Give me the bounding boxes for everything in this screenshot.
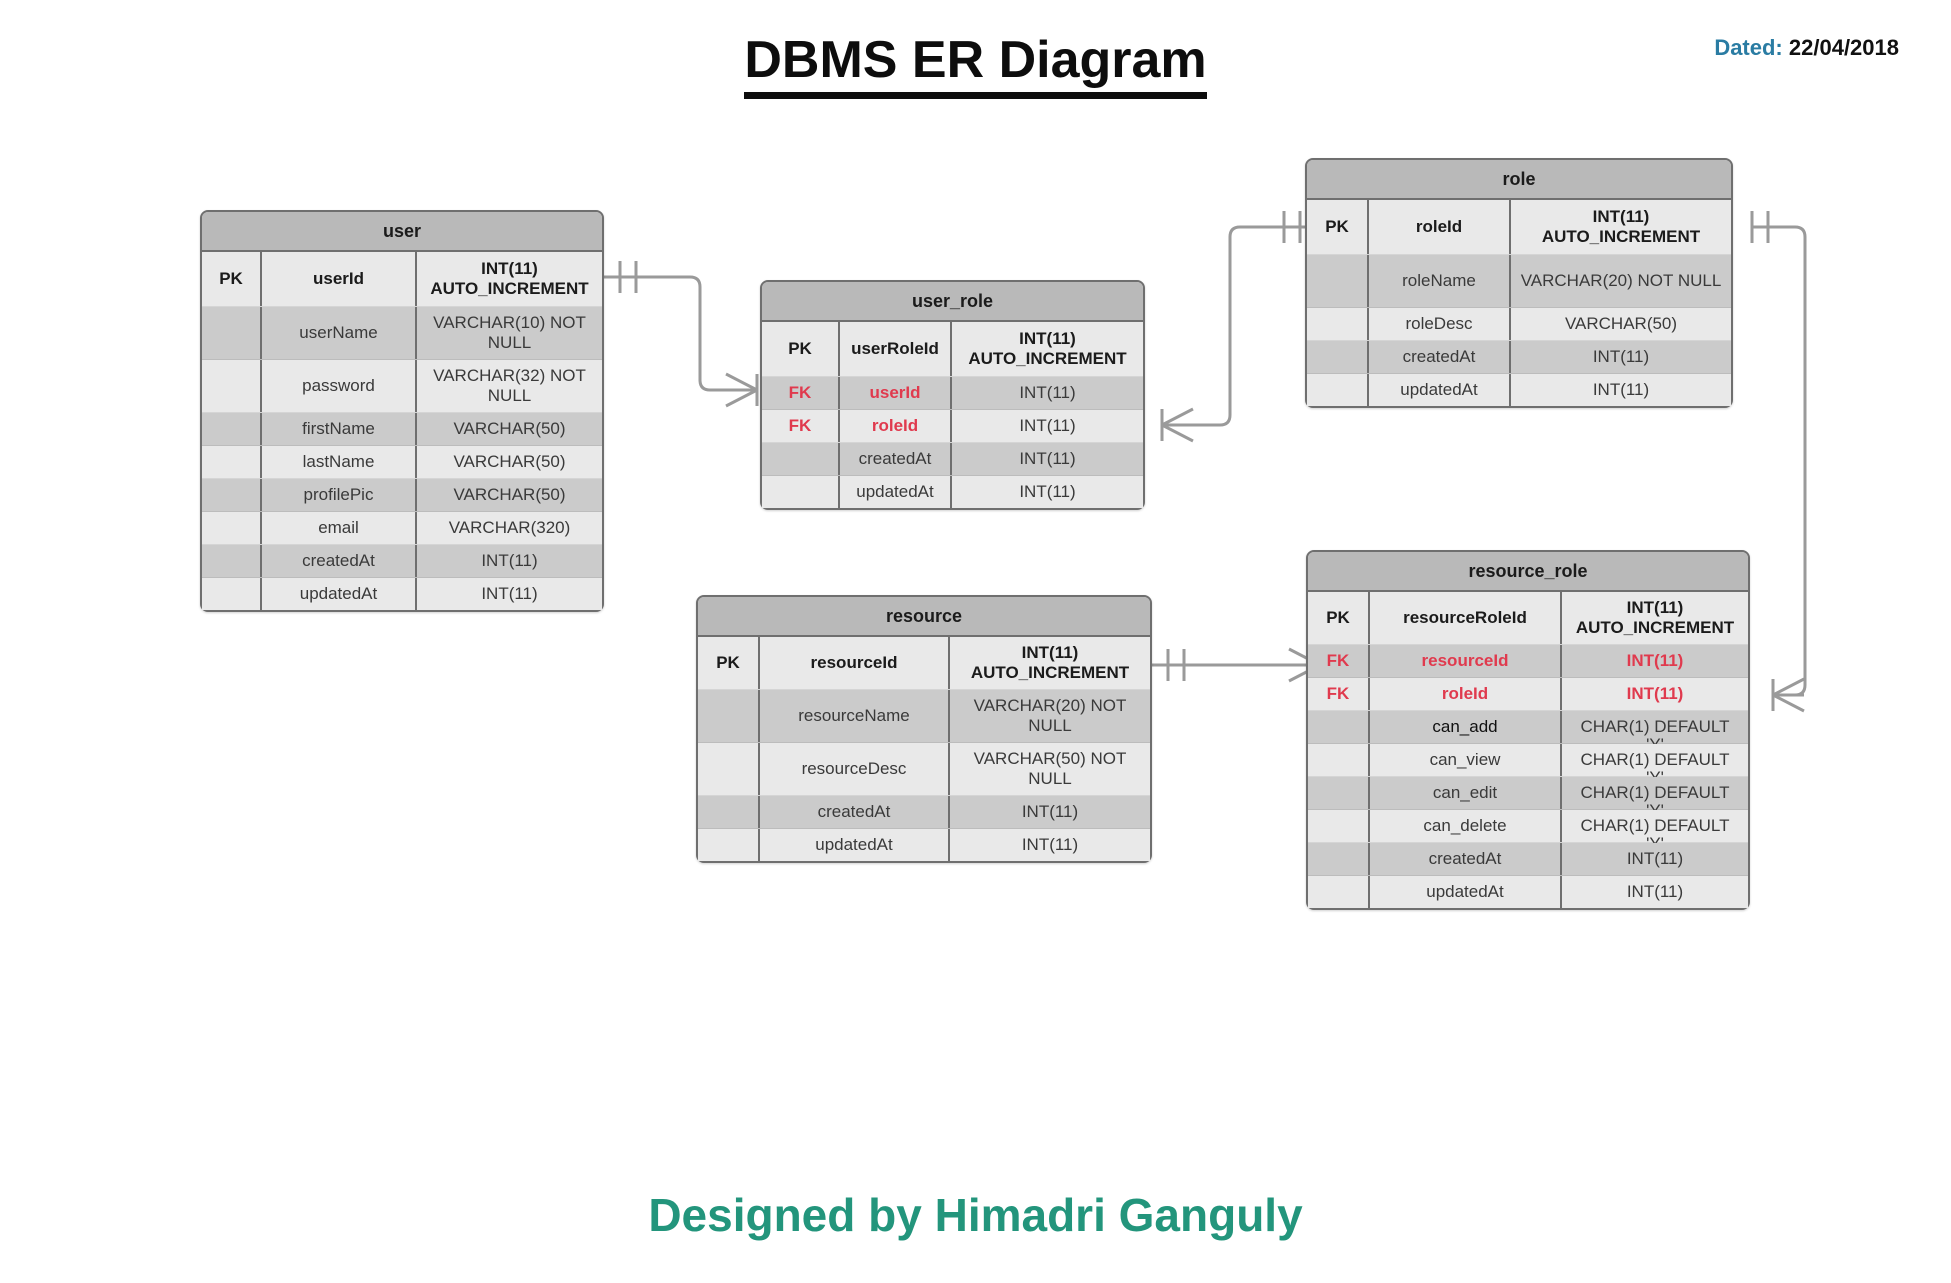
column-name: userId bbox=[262, 252, 417, 306]
table-row[interactable]: password VARCHAR(32) NOT NULL bbox=[202, 360, 602, 413]
column-name: resourceDesc bbox=[760, 743, 950, 795]
dated-label: Dated: bbox=[1714, 35, 1782, 60]
column-name: lastName bbox=[262, 446, 417, 478]
column-name: resourceRoleId bbox=[1370, 592, 1562, 644]
column-type: VARCHAR(50) bbox=[417, 413, 602, 445]
entity-title-user-role: user_role bbox=[762, 282, 1143, 322]
column-type: VARCHAR(50) bbox=[417, 479, 602, 511]
column-type: INT(11) bbox=[1562, 678, 1748, 710]
column-key bbox=[1307, 308, 1369, 340]
column-name: roleId bbox=[840, 410, 952, 442]
column-key bbox=[1308, 711, 1370, 743]
table-row[interactable]: createdAt INT(11) bbox=[1308, 843, 1748, 876]
column-type: INT(11) bbox=[950, 829, 1150, 861]
entity-user[interactable]: user PK userId INT(11) AUTO_INCREMENT us… bbox=[200, 210, 604, 612]
column-key: PK bbox=[762, 322, 840, 376]
column-type: INT(11) AUTO_INCREMENT bbox=[1562, 592, 1748, 644]
column-type: CHAR(1) DEFAULT 'Y' bbox=[1562, 777, 1748, 809]
table-row[interactable]: FK userId INT(11) bbox=[762, 377, 1143, 410]
table-row[interactable]: updatedAt INT(11) bbox=[202, 578, 602, 610]
column-key bbox=[1307, 255, 1369, 307]
column-key bbox=[202, 307, 262, 359]
column-name: resourceId bbox=[760, 637, 950, 689]
column-type-text: CHAR(1) DEFAULT bbox=[1581, 717, 1730, 737]
column-type: VARCHAR(50) bbox=[1511, 308, 1731, 340]
table-row[interactable]: FK roleId INT(11) bbox=[1308, 678, 1748, 711]
table-row[interactable]: can_view CHAR(1) DEFAULT 'Y' bbox=[1308, 744, 1748, 777]
column-key bbox=[202, 578, 262, 610]
table-row[interactable]: PK resourceId INT(11) AUTO_INCREMENT bbox=[698, 637, 1150, 690]
column-key bbox=[1308, 744, 1370, 776]
table-row[interactable]: updatedAt INT(11) bbox=[698, 829, 1150, 861]
table-row[interactable]: FK resourceId INT(11) bbox=[1308, 645, 1748, 678]
connector-role-to-resource-role bbox=[1753, 227, 1805, 695]
column-type: VARCHAR(50) bbox=[417, 446, 602, 478]
dated-value: 22/04/2018 bbox=[1789, 35, 1899, 60]
column-name: createdAt bbox=[262, 545, 417, 577]
column-key: PK bbox=[1307, 200, 1369, 254]
column-type: INT(11) bbox=[417, 545, 602, 577]
table-row[interactable]: createdAt INT(11) bbox=[698, 796, 1150, 829]
column-key: PK bbox=[698, 637, 760, 689]
column-name: roleName bbox=[1369, 255, 1511, 307]
column-name: email bbox=[262, 512, 417, 544]
column-key: PK bbox=[1308, 592, 1370, 644]
column-type-text: CHAR(1) DEFAULT bbox=[1581, 783, 1730, 803]
column-key bbox=[202, 446, 262, 478]
column-key bbox=[762, 443, 840, 475]
table-row[interactable]: can_delete CHAR(1) DEFAULT 'Y' bbox=[1308, 810, 1748, 843]
column-key: FK bbox=[762, 377, 840, 409]
column-name: resourceId bbox=[1370, 645, 1562, 677]
column-key bbox=[698, 690, 760, 742]
entity-user-role[interactable]: user_role PK userRoleId INT(11) AUTO_INC… bbox=[760, 280, 1145, 510]
column-type: INT(11) AUTO_INCREMENT bbox=[1511, 200, 1731, 254]
page-title: DBMS ER Diagram bbox=[0, 30, 1951, 99]
column-name: userName bbox=[262, 307, 417, 359]
table-row[interactable]: can_edit CHAR(1) DEFAULT 'Y' bbox=[1308, 777, 1748, 810]
column-key bbox=[202, 512, 262, 544]
column-name: can_view bbox=[1370, 744, 1562, 776]
column-key bbox=[1308, 843, 1370, 875]
column-list-resource-role: PK resourceRoleId INT(11) AUTO_INCREMENT… bbox=[1308, 592, 1748, 908]
column-key bbox=[1308, 810, 1370, 842]
column-name: can_edit bbox=[1370, 777, 1562, 809]
column-name: updatedAt bbox=[840, 476, 952, 508]
entity-title-resource: resource bbox=[698, 597, 1150, 637]
column-key bbox=[1308, 876, 1370, 908]
column-type: INT(11) bbox=[1562, 843, 1748, 875]
entity-role[interactable]: role PK roleId INT(11) AUTO_INCREMENT ro… bbox=[1305, 158, 1733, 408]
column-name: roleDesc bbox=[1369, 308, 1511, 340]
column-name: createdAt bbox=[1369, 341, 1511, 373]
column-list-user: PK userId INT(11) AUTO_INCREMENT userNam… bbox=[202, 252, 602, 610]
page-title-text: DBMS ER Diagram bbox=[744, 32, 1206, 99]
table-row[interactable]: firstName VARCHAR(50) bbox=[202, 413, 602, 446]
column-name: firstName bbox=[262, 413, 417, 445]
column-type: INT(11) bbox=[952, 377, 1143, 409]
column-name: can_add bbox=[1370, 711, 1562, 743]
column-type: INT(11) AUTO_INCREMENT bbox=[952, 322, 1143, 376]
column-type: INT(11) bbox=[1511, 341, 1731, 373]
column-type: VARCHAR(20) NOT NULL bbox=[1511, 255, 1731, 307]
column-key bbox=[202, 413, 262, 445]
table-row[interactable]: updatedAt INT(11) bbox=[1308, 876, 1748, 908]
column-name: updatedAt bbox=[1370, 876, 1562, 908]
dated-stamp: Dated: 22/04/2018 bbox=[1714, 35, 1899, 61]
column-key bbox=[762, 476, 840, 508]
column-type: CHAR(1) DEFAULT 'Y' bbox=[1562, 744, 1748, 776]
column-key: FK bbox=[1308, 645, 1370, 677]
column-type: INT(11) bbox=[417, 578, 602, 610]
column-type: VARCHAR(50) NOT NULL bbox=[950, 743, 1150, 795]
column-key bbox=[698, 829, 760, 861]
column-name: roleId bbox=[1369, 200, 1511, 254]
connector-role-to-user-role bbox=[1162, 227, 1315, 425]
column-type: VARCHAR(32) NOT NULL bbox=[417, 360, 602, 412]
table-row[interactable]: PK resourceRoleId INT(11) AUTO_INCREMENT bbox=[1308, 592, 1748, 645]
column-name: createdAt bbox=[1370, 843, 1562, 875]
column-type: INT(11) bbox=[952, 476, 1143, 508]
column-type: VARCHAR(320) bbox=[417, 512, 602, 544]
column-key bbox=[202, 360, 262, 412]
table-row[interactable]: createdAt INT(11) bbox=[202, 545, 602, 578]
column-name: createdAt bbox=[840, 443, 952, 475]
column-type: CHAR(1) DEFAULT 'Y' bbox=[1562, 810, 1748, 842]
column-type-text: CHAR(1) DEFAULT bbox=[1581, 750, 1730, 770]
table-row[interactable]: PK userId INT(11) AUTO_INCREMENT bbox=[202, 252, 602, 307]
column-key: FK bbox=[1308, 678, 1370, 710]
column-type: INT(11) AUTO_INCREMENT bbox=[950, 637, 1150, 689]
column-type: INT(11) bbox=[1511, 374, 1731, 406]
column-name: updatedAt bbox=[760, 829, 950, 861]
column-key bbox=[202, 545, 262, 577]
entity-title-user: user bbox=[202, 212, 602, 252]
column-name: userRoleId bbox=[840, 322, 952, 376]
column-key bbox=[1307, 374, 1369, 406]
column-name: resourceName bbox=[760, 690, 950, 742]
table-row[interactable]: email VARCHAR(320) bbox=[202, 512, 602, 545]
column-key: FK bbox=[762, 410, 840, 442]
table-row[interactable]: updatedAt INT(11) bbox=[1307, 374, 1731, 406]
column-type: VARCHAR(20) NOT NULL bbox=[950, 690, 1150, 742]
table-row[interactable]: can_add CHAR(1) DEFAULT 'Y' bbox=[1308, 711, 1748, 744]
entity-resource-role[interactable]: resource_role PK resourceRoleId INT(11) … bbox=[1306, 550, 1750, 910]
column-type: INT(11) bbox=[952, 410, 1143, 442]
column-type: INT(11) bbox=[1562, 645, 1748, 677]
column-name: password bbox=[262, 360, 417, 412]
column-name: updatedAt bbox=[262, 578, 417, 610]
column-list-resource: PK resourceId INT(11) AUTO_INCREMENT res… bbox=[698, 637, 1150, 861]
entity-title-resource-role: resource_role bbox=[1308, 552, 1748, 592]
table-row[interactable]: profilePic VARCHAR(50) bbox=[202, 479, 602, 512]
column-name: profilePic bbox=[262, 479, 417, 511]
table-row[interactable]: createdAt INT(11) bbox=[1307, 341, 1731, 374]
column-key bbox=[698, 743, 760, 795]
column-name: can_delete bbox=[1370, 810, 1562, 842]
column-type: CHAR(1) DEFAULT 'Y' bbox=[1562, 711, 1748, 743]
column-type: INT(11) AUTO_INCREMENT bbox=[417, 252, 602, 306]
table-row[interactable]: userName VARCHAR(10) NOT NULL bbox=[202, 307, 602, 360]
table-row[interactable]: lastName VARCHAR(50) bbox=[202, 446, 602, 479]
column-key bbox=[1308, 777, 1370, 809]
table-row[interactable]: roleDesc VARCHAR(50) bbox=[1307, 308, 1731, 341]
column-type: INT(11) bbox=[952, 443, 1143, 475]
column-key bbox=[698, 796, 760, 828]
connector-user-to-user-role bbox=[604, 277, 757, 390]
column-name: updatedAt bbox=[1369, 374, 1511, 406]
column-key bbox=[202, 479, 262, 511]
column-key: PK bbox=[202, 252, 262, 306]
table-row[interactable]: createdAt INT(11) bbox=[762, 443, 1143, 476]
column-key bbox=[1307, 341, 1369, 373]
entity-resource[interactable]: resource PK resourceId INT(11) AUTO_INCR… bbox=[696, 595, 1152, 863]
table-row[interactable]: roleName VARCHAR(20) NOT NULL bbox=[1307, 255, 1731, 308]
column-type: INT(11) bbox=[1562, 876, 1748, 908]
column-name: roleId bbox=[1370, 678, 1562, 710]
column-name: createdAt bbox=[760, 796, 950, 828]
table-row[interactable]: FK roleId INT(11) bbox=[762, 410, 1143, 443]
table-row[interactable]: resourceName VARCHAR(20) NOT NULL bbox=[698, 690, 1150, 743]
column-name: userId bbox=[840, 377, 952, 409]
table-row[interactable]: PK roleId INT(11) AUTO_INCREMENT bbox=[1307, 200, 1731, 255]
table-row[interactable]: resourceDesc VARCHAR(50) NOT NULL bbox=[698, 743, 1150, 796]
entity-title-role: role bbox=[1307, 160, 1731, 200]
designer-credit: Designed by Himadri Ganguly bbox=[0, 1188, 1951, 1242]
column-list-user-role: PK userRoleId INT(11) AUTO_INCREMENT FK … bbox=[762, 322, 1143, 508]
column-type: INT(11) bbox=[950, 796, 1150, 828]
column-list-role: PK roleId INT(11) AUTO_INCREMENT roleNam… bbox=[1307, 200, 1731, 406]
column-type: VARCHAR(10) NOT NULL bbox=[417, 307, 602, 359]
table-row[interactable]: updatedAt INT(11) bbox=[762, 476, 1143, 508]
column-type-text: CHAR(1) DEFAULT bbox=[1581, 816, 1730, 836]
table-row[interactable]: PK userRoleId INT(11) AUTO_INCREMENT bbox=[762, 322, 1143, 377]
